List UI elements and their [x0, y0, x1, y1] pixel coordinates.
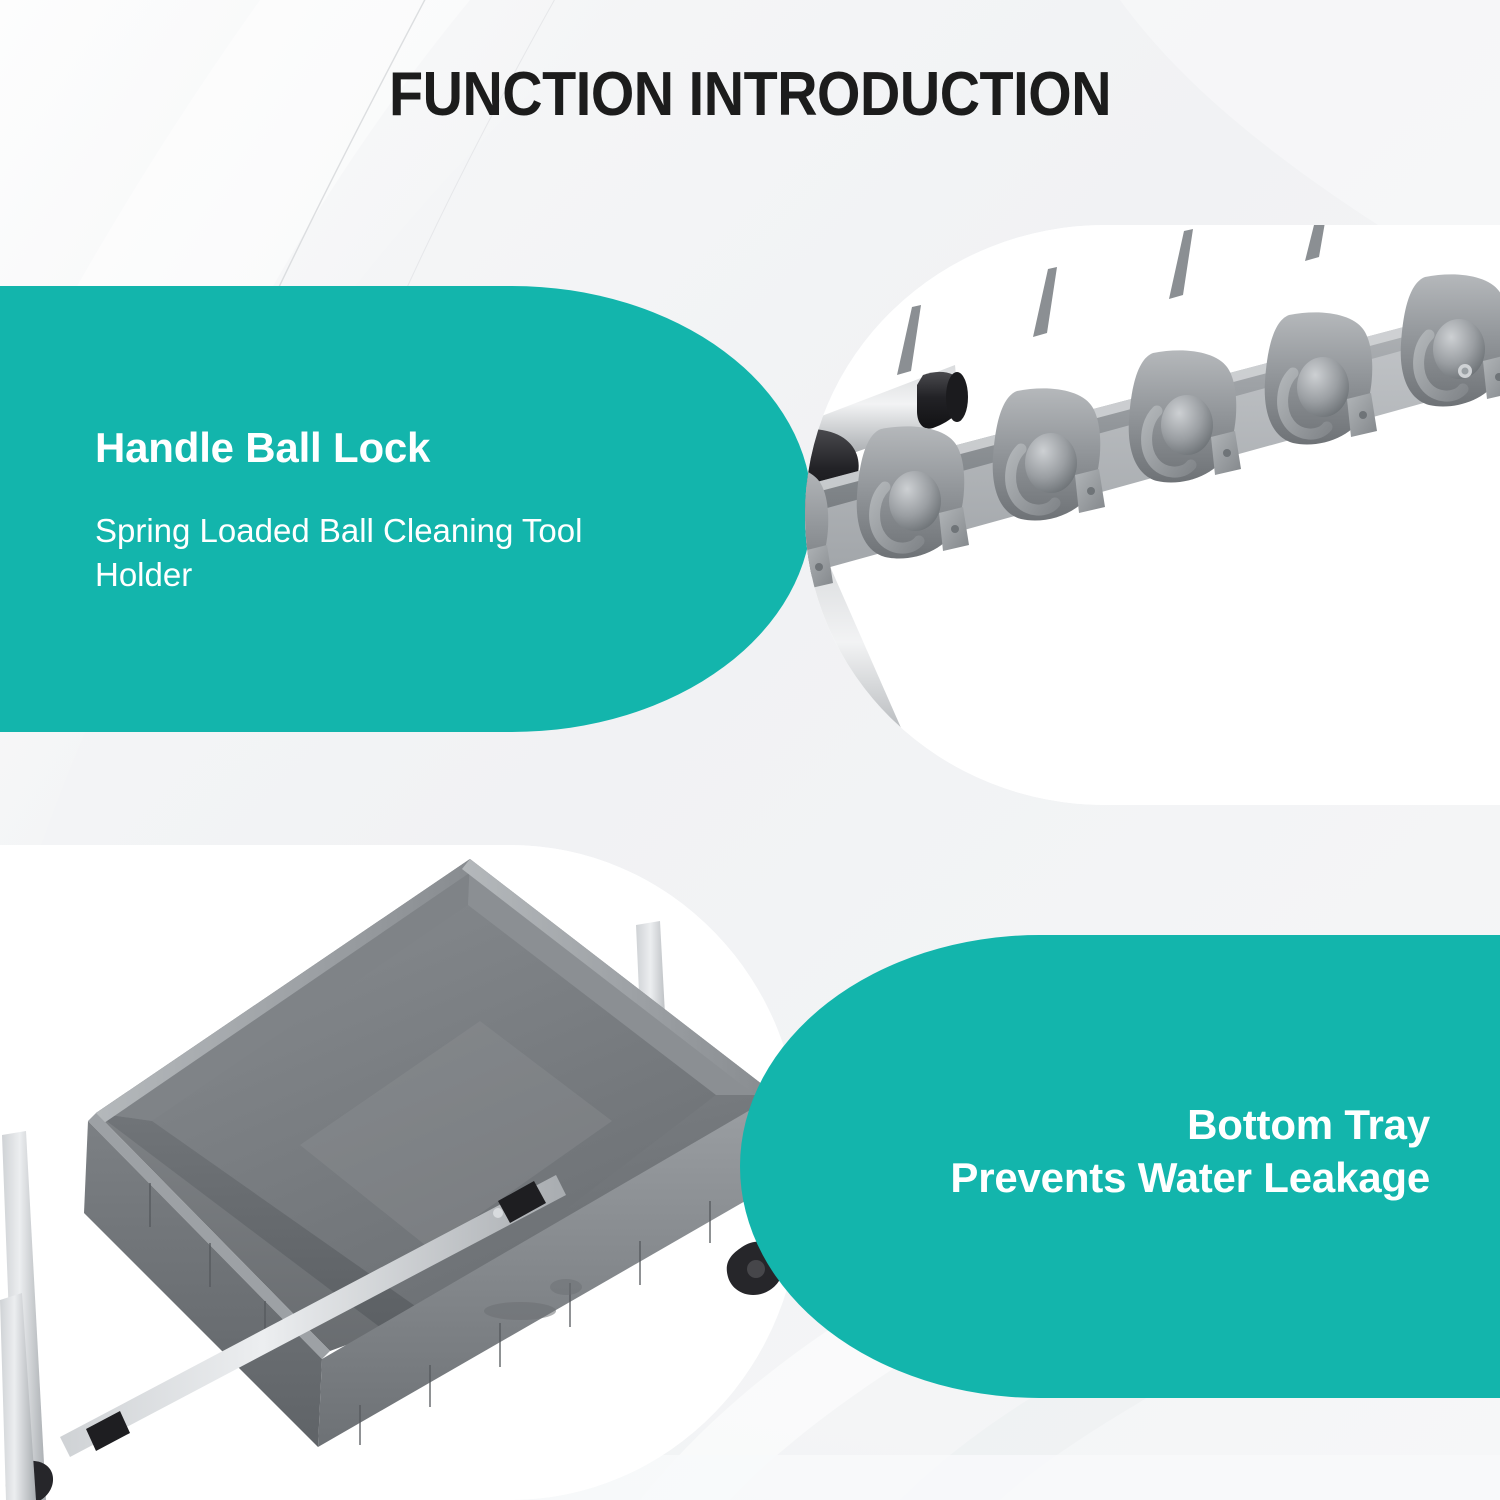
tool-holder-illustration: [805, 225, 1500, 805]
infographic-page: FUNCTION INTRODUCTION Handle Ball Lock S…: [0, 0, 1500, 1500]
product-photo-tool-holder: [805, 225, 1500, 805]
feature-subtext-handle-ball-lock: Spring Loaded Ball Cleaning Tool Holder: [95, 509, 655, 597]
feature-heading-bottom-tray-line2: Prevents Water Leakage: [730, 1151, 1430, 1204]
feature-heading-bottom-tray-line1: Bottom Tray: [730, 1098, 1430, 1151]
bottom-tray-illustration: [0, 845, 800, 1500]
product-photo-bottom-tray: [0, 845, 800, 1500]
feature-heading-bottom-tray: Bottom Tray Prevents Water Leakage: [730, 1098, 1430, 1205]
feature-heading-handle-ball-lock: Handle Ball Lock: [95, 424, 430, 472]
page-title: FUNCTION INTRODUCTION: [75, 64, 1425, 126]
